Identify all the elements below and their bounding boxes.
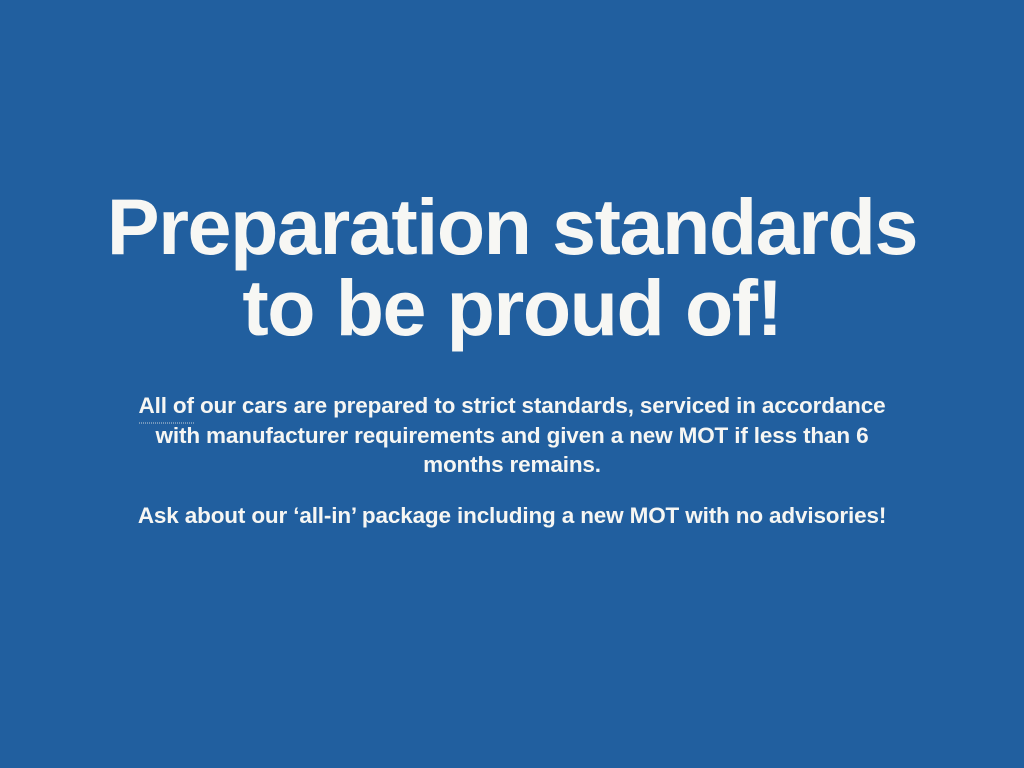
preparation-description-line-1: All of our cars are prepared to strict s… bbox=[0, 391, 1024, 420]
body-copy: All of our cars are prepared to strict s… bbox=[0, 391, 1024, 530]
slide-content: Preparation standards to be proud of! Al… bbox=[0, 0, 1024, 531]
preparation-description-paragraph: All of our cars are prepared to strict s… bbox=[0, 391, 1024, 479]
spellcheck-underline-artifact: All of bbox=[139, 391, 194, 420]
all-in-package-paragraph: Ask about our ‘all-in’ package including… bbox=[0, 501, 1024, 530]
page-title-line-2: to be proud of! bbox=[0, 269, 1024, 347]
slide-canvas: Preparation standards to be proud of! Al… bbox=[0, 0, 1024, 768]
all-in-package-line-1: Ask about our ‘all-in’ package including… bbox=[0, 501, 1024, 530]
preparation-description-line-3: months remains. bbox=[0, 450, 1024, 479]
page-title-line-1: Preparation standards bbox=[0, 188, 1024, 266]
page-title: Preparation standards to be proud of! bbox=[0, 188, 1024, 347]
preparation-description-line-2: with manufacturer requirements and given… bbox=[0, 421, 1024, 450]
preparation-description-line-1-rest: our cars are prepared to strict standard… bbox=[194, 393, 886, 418]
